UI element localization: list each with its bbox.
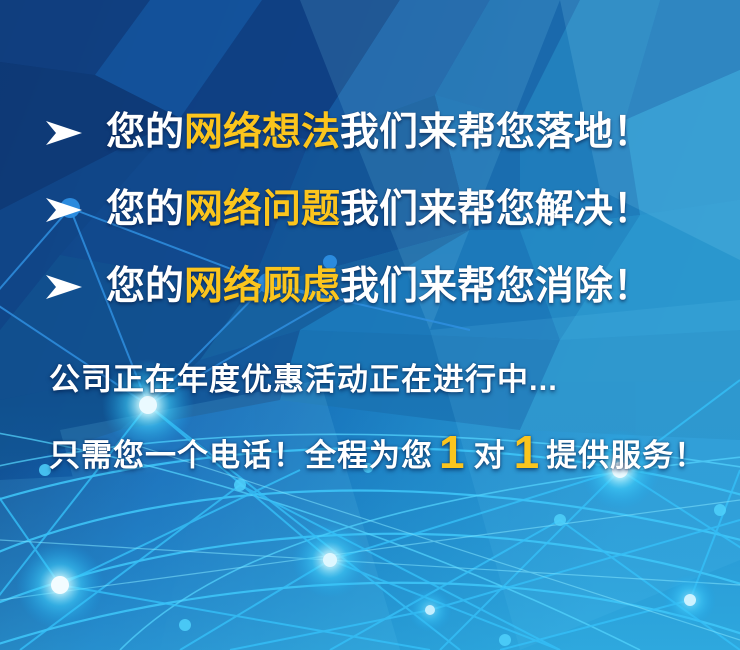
bullet-row-3: 您的网络顾虑我们来帮您消除！: [44, 261, 652, 313]
bullet-text-1: 您的网络想法我们来帮您落地！: [106, 107, 652, 159]
bullet-prefix-3: 您的: [106, 265, 184, 308]
bullet-prefix-1: 您的: [106, 111, 184, 154]
bullet-highlight-3: 网络顾虑: [184, 265, 340, 308]
service-number-one-first: 1: [433, 430, 472, 474]
bullet-text-3: 您的网络顾虑我们来帮您消除！: [106, 261, 652, 313]
bullet-suffix-1: 我们来帮您落地！: [340, 111, 652, 154]
bullet-prefix-2: 您的: [106, 188, 184, 231]
bullet-row-1: 您的网络想法我们来帮您落地！: [44, 107, 652, 159]
subheading-line-1: 公司正在年度优惠活动正在进行中...: [49, 360, 558, 400]
bullet-highlight-1: 网络想法: [184, 111, 340, 154]
promo-banner: 您的网络想法我们来帮您落地！ 您的网络问题我们来帮您解决！ 您的网络顾虑我们来帮…: [0, 0, 740, 650]
bullet-text-2: 您的网络问题我们来帮您解决！: [106, 184, 652, 236]
arrow-right-icon: [44, 195, 84, 225]
subheading-part-1: 只需您一个电话！全程为您: [49, 434, 433, 478]
arrow-right-icon: [44, 272, 84, 302]
bullet-row-2: 您的网络问题我们来帮您解决！: [44, 184, 652, 236]
bullet-highlight-2: 网络问题: [184, 188, 340, 231]
service-number-one-second: 1: [508, 430, 547, 474]
bullet-suffix-2: 我们来帮您解决！: [340, 188, 652, 231]
subheading-middle-word: 对: [472, 434, 508, 478]
arrow-right-icon: [44, 118, 84, 148]
banner-content: 您的网络想法我们来帮您落地！ 您的网络问题我们来帮您解决！ 您的网络顾虑我们来帮…: [0, 0, 740, 650]
subheading-line-2: 只需您一个电话！全程为您 1 对 1 提供服务！: [49, 428, 706, 478]
subheading-part-2: 提供服务！: [546, 434, 706, 478]
bullet-suffix-3: 我们来帮您消除！: [340, 265, 652, 308]
